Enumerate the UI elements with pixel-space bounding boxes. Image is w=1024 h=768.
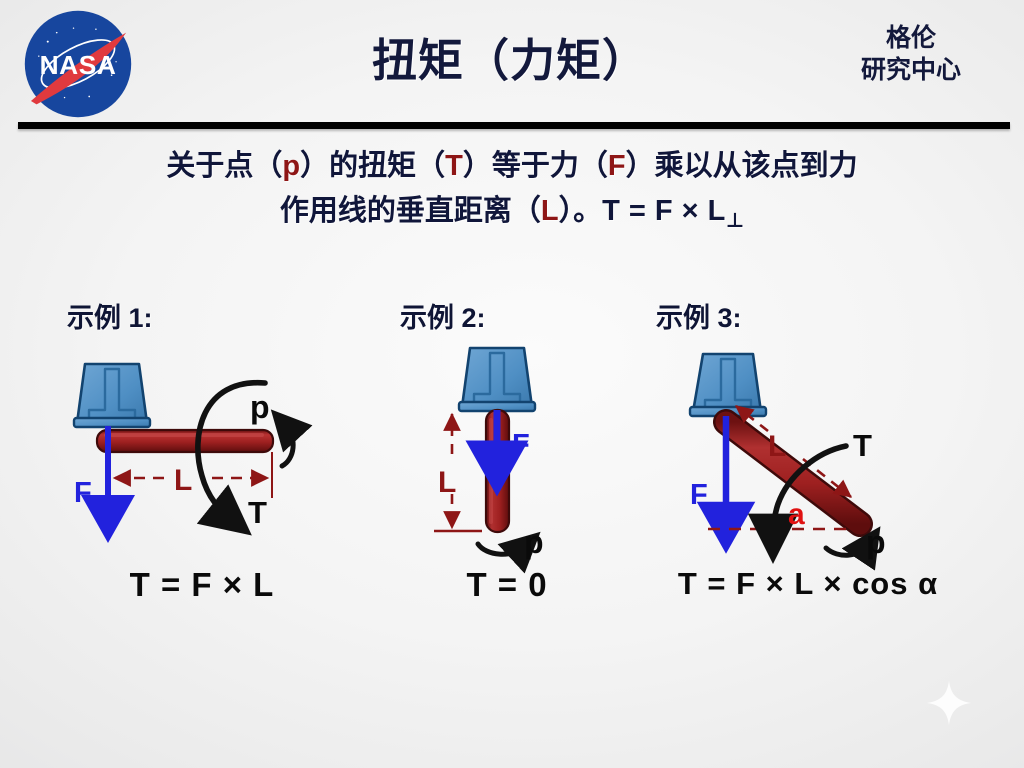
page-title: 扭矩（力矩） (160, 24, 860, 89)
definition-text-f: ）。 (559, 195, 603, 227)
svg-text:NASA: NASA (40, 50, 117, 80)
length-label-L: L (174, 464, 192, 497)
header-divider (18, 122, 1010, 129)
angle-label-alpha: a (788, 498, 805, 531)
wall-bracket-icon (459, 348, 535, 411)
symbol-L: L (541, 195, 559, 227)
example-2-diagram: F L p (382, 326, 632, 576)
horizontal-beam (97, 430, 273, 452)
symbol-p: p (282, 150, 300, 182)
example-3-diagram: F L T a p (648, 326, 968, 576)
pivot-label-p: p (866, 524, 886, 560)
example-1-formula: T = F × L (52, 566, 352, 604)
research-center-line-2: 研究中心 (816, 54, 1006, 86)
length-label-L: L (768, 430, 786, 463)
definition-text-a: 关于点（ (166, 150, 282, 182)
pivot-curl-icon (826, 545, 868, 555)
main-formula: T = F × L (602, 195, 726, 227)
torque-label-T: T (853, 428, 872, 463)
pivot-curl-icon (478, 544, 524, 554)
slide-header: NASA 扭矩（力矩） 格伦 研究中心 (0, 0, 1024, 124)
length-label-L: L (438, 466, 456, 499)
wall-bracket-icon (690, 354, 766, 416)
example-1-diagram: F L T p (52, 326, 352, 576)
perpendicular-subscript: ⊥ (726, 210, 744, 232)
sparkle-star-icon (926, 680, 972, 726)
pivot-label-p: p (524, 524, 544, 560)
nasa-meatball-logo: NASA (22, 8, 134, 120)
pivot-curl-icon (282, 426, 293, 466)
force-label-F: F (512, 429, 530, 461)
force-label-F: F (690, 479, 708, 511)
example-3-formula: T = F × L × cos α (648, 566, 968, 602)
research-center-name: 格伦 研究中心 (816, 22, 1006, 86)
definition-line-1: 关于点（p）的扭矩（T）等于力（F）乘以从该点到力 (62, 144, 962, 189)
pivot-label-p: p (250, 389, 270, 425)
definition-line-2: 作用线的垂直距离（L）。T = F × L⊥ (62, 189, 962, 237)
torque-label-T: T (248, 495, 267, 530)
wall-bracket-icon (74, 364, 150, 427)
definition-text-b: ）的扭矩（ (300, 150, 445, 182)
force-label-F: F (74, 477, 92, 509)
symbol-F: F (608, 150, 626, 182)
definition-text-d: ）乘以从该点到力 (626, 150, 858, 182)
definition-text-c: ）等于力（ (463, 150, 608, 182)
research-center-line-1: 格伦 (816, 22, 1006, 54)
definition-text-e: 作用线的垂直距离（ (280, 195, 541, 227)
example-2-formula: T = 0 (382, 566, 632, 604)
torque-definition-text: 关于点（p）的扭矩（T）等于力（F）乘以从该点到力 作用线的垂直距离（L）。T … (62, 144, 962, 237)
symbol-T: T (445, 150, 463, 182)
